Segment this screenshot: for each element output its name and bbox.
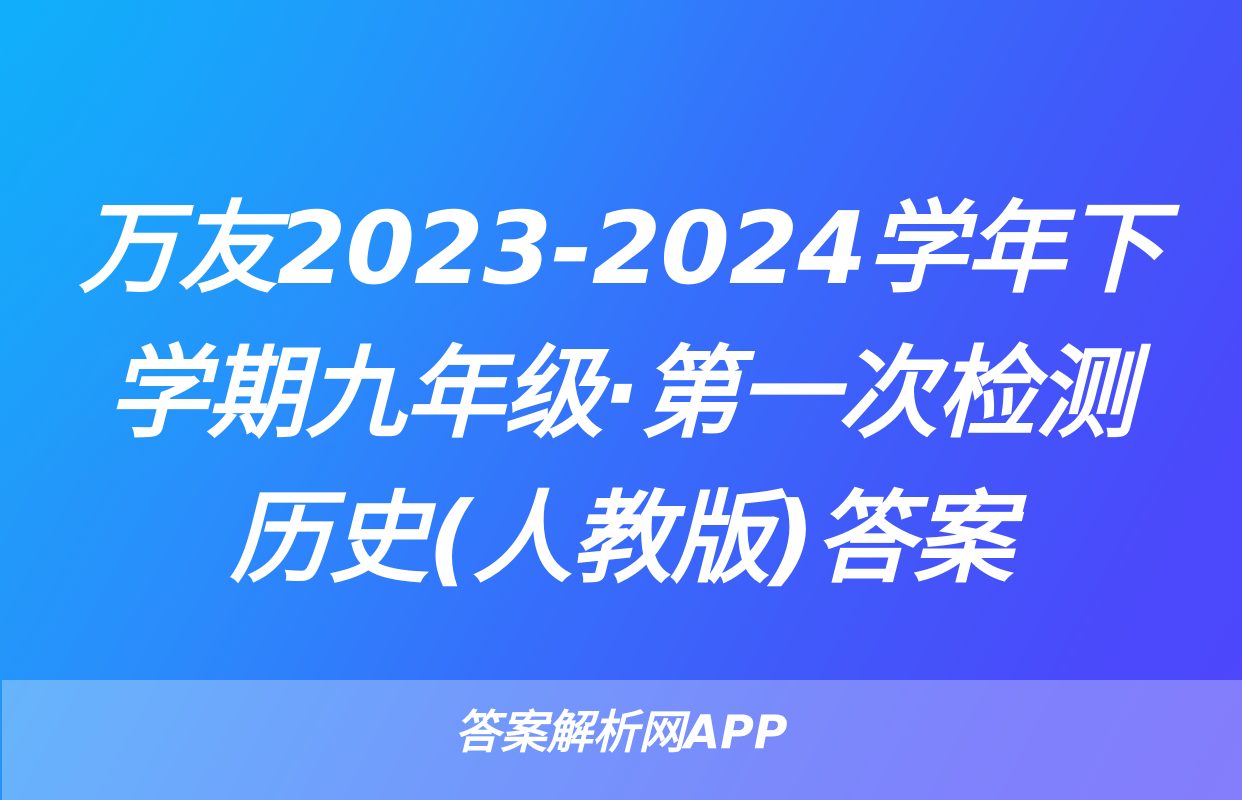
page-title: 万友2023-2024学年下 学期九年级·第一次检测 历史(人教版)答案 [0, 176, 1242, 611]
watermark: 答案解析网APP [0, 703, 1242, 761]
title-line-1: 万友2023-2024学年下 [0, 176, 1242, 321]
title-line-3: 历史(人教版)答案 [0, 466, 1242, 611]
title-line-2: 学期九年级·第一次检测 [0, 321, 1242, 466]
answer-cover-banner: 万友2023-2024学年下 学期九年级·第一次检测 历史(人教版)答案 答案解… [0, 0, 1242, 800]
watermark-label: 答案解析网APP [454, 703, 787, 761]
